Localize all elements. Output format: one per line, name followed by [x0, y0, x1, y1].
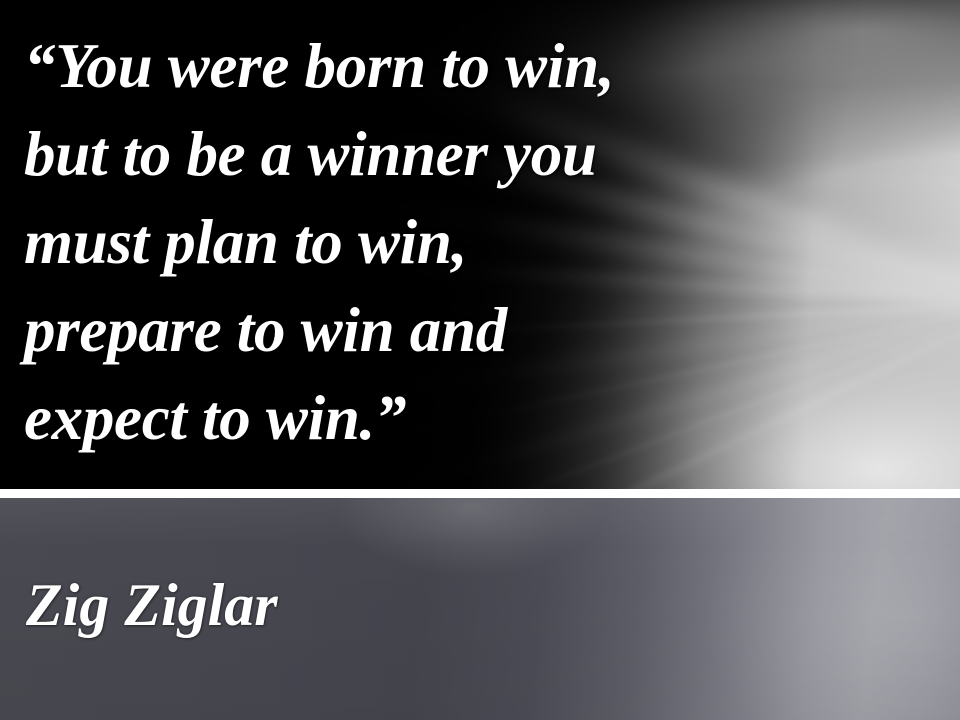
background-photo: “You were born to win, but to be a winne…: [0, 0, 960, 489]
quote-line-1: “You were born to win,: [24, 22, 939, 110]
footer-band: Zig Ziglar: [0, 498, 960, 720]
quote-slide: “You were born to win, but to be a winne…: [0, 0, 960, 720]
quote-text: “You were born to win, but to be a winne…: [24, 22, 939, 462]
quote-line-3: must plan to win,: [24, 198, 939, 286]
divider-bar: [0, 489, 960, 498]
quote-line-5: expect to win.”: [24, 374, 939, 462]
quote-line-2: but to be a winner you: [24, 110, 939, 198]
author-name: Zig Ziglar: [26, 574, 278, 636]
quote-line-4: prepare to win and: [24, 286, 939, 374]
